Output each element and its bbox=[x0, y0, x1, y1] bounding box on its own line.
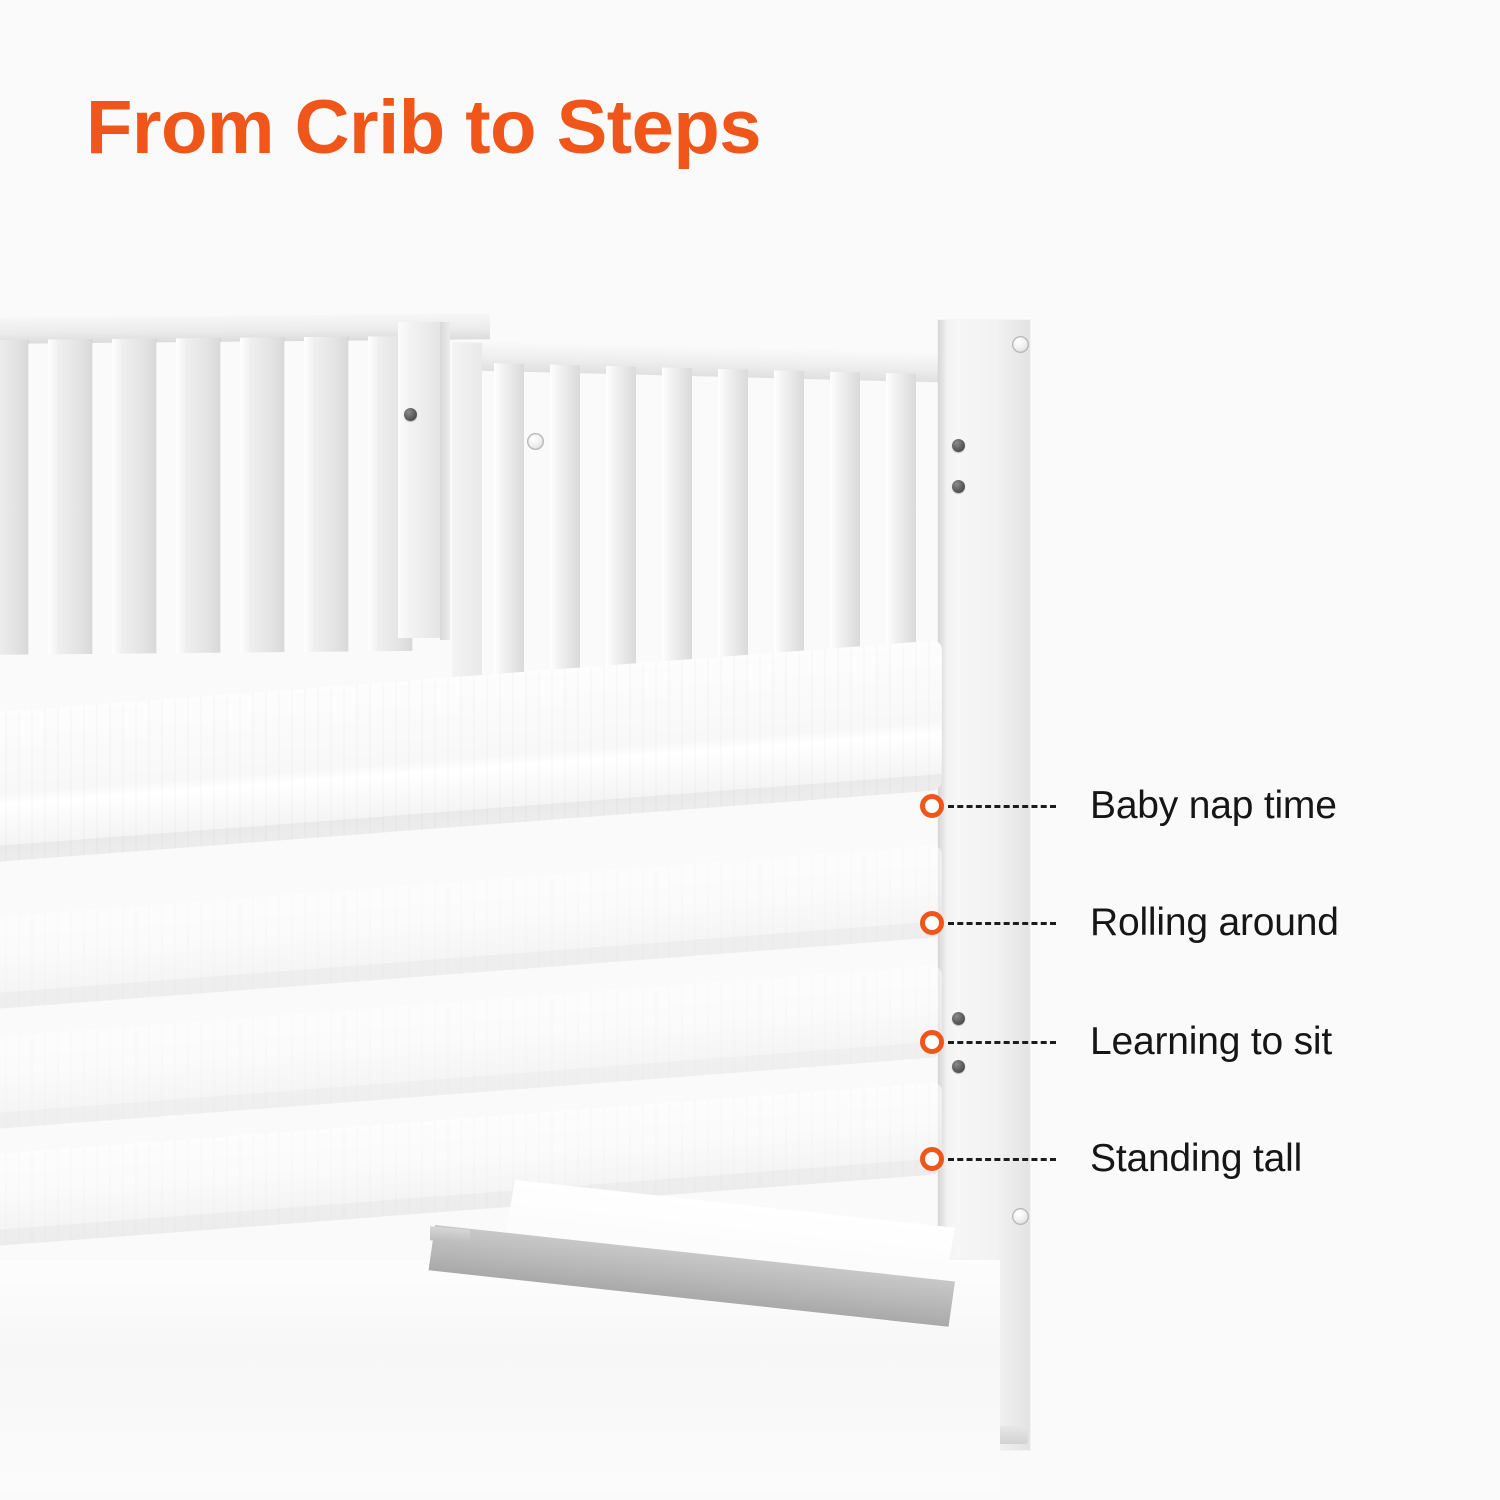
callout-learning-to-sit: Learning to sit bbox=[920, 1022, 1332, 1062]
leader-line bbox=[948, 1158, 1056, 1161]
page-title: From Crib to Steps bbox=[86, 88, 761, 168]
callout-label: Rolling around bbox=[1090, 901, 1339, 945]
callout-baby-nap-time: Baby nap time bbox=[920, 786, 1337, 826]
crib-corner-post-edge bbox=[440, 322, 450, 640]
screw-cap-icon bbox=[1012, 1208, 1029, 1225]
callout-label: Standing tall bbox=[1090, 1137, 1302, 1181]
screw-cap-icon bbox=[527, 433, 544, 450]
mattress-level-1 bbox=[0, 640, 942, 886]
screw-icon bbox=[404, 408, 417, 421]
screw-icon bbox=[952, 439, 965, 452]
orange-ring-marker-icon bbox=[920, 911, 944, 935]
leader-line bbox=[948, 922, 1056, 925]
callout-rolling-around: Rolling around bbox=[920, 903, 1339, 943]
leader-line bbox=[948, 805, 1056, 808]
orange-ring-marker-icon bbox=[920, 1147, 944, 1171]
screw-cap-icon bbox=[1012, 336, 1029, 353]
screw-icon bbox=[952, 480, 965, 493]
crib-corner-post-left bbox=[398, 322, 442, 638]
leader-line bbox=[948, 1041, 1056, 1044]
orange-ring-marker-icon bbox=[920, 794, 944, 818]
infographic-canvas: From Crib to Steps bbox=[0, 0, 1500, 1500]
orange-ring-marker-icon bbox=[920, 1030, 944, 1054]
callout-standing-tall: Standing tall bbox=[920, 1139, 1302, 1179]
callout-label: Baby nap time bbox=[1090, 784, 1337, 828]
callout-label: Learning to sit bbox=[1090, 1020, 1332, 1064]
product-photo bbox=[0, 300, 1080, 1500]
